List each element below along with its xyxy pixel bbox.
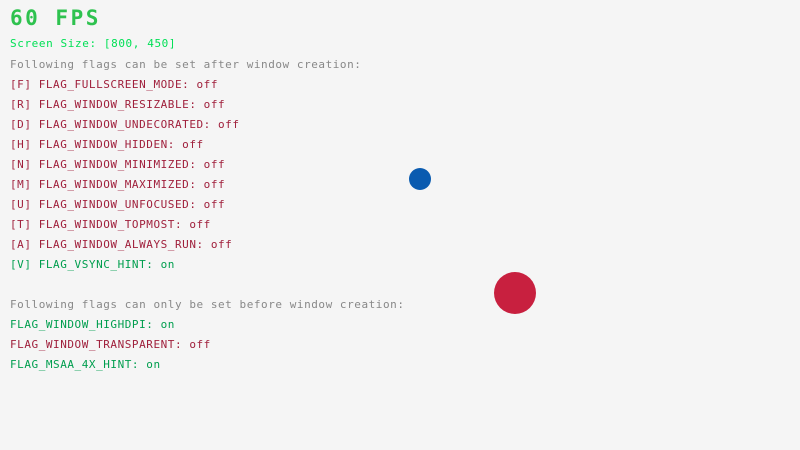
flag-row-window-always-run[interactable]: [A] FLAG_WINDOW_ALWAYS_RUN: off [10,239,232,250]
flag-row-window-topmost[interactable]: [T] FLAG_WINDOW_TOPMOST: off [10,219,211,230]
flag-row-window-unfocused[interactable]: [U] FLAG_WINDOW_UNFOCUSED: off [10,199,225,210]
flag-row-window-minimized[interactable]: [N] FLAG_WINDOW_MINIMIZED: off [10,159,225,170]
flag-row-window-hidden[interactable]: [H] FLAG_WINDOW_HIDDEN: off [10,139,204,150]
flag-row-window-highdpi: FLAG_WINDOW_HIGHDPI: on [10,319,175,330]
flag-row-msaa-4x-hint: FLAG_MSAA_4X_HINT: on [10,359,161,370]
before-creation-heading: Following flags can only be set before w… [10,299,405,310]
screen-size-label: Screen Size: [800, 450] [10,38,176,49]
flag-row-window-undecorated[interactable]: [D] FLAG_WINDOW_UNDECORATED: off [10,119,240,130]
fps-counter: 60 FPS [10,8,101,29]
after-creation-heading: Following flags can be set after window … [10,59,361,70]
blue-circle [409,168,431,190]
flag-row-vsync-hint[interactable]: [V] FLAG_VSYNC_HINT: on [10,259,175,270]
flag-row-window-resizable[interactable]: [R] FLAG_WINDOW_RESIZABLE: off [10,99,225,110]
application-window: 60 FPS Screen Size: [800, 450] Following… [0,0,800,450]
flags-info-panel: 60 FPS Screen Size: [800, 450] Following… [0,0,420,450]
red-circle [494,272,536,314]
flag-row-window-maximized[interactable]: [M] FLAG_WINDOW_MAXIMIZED: off [10,179,225,190]
flag-row-fullscreen-mode[interactable]: [F] FLAG_FULLSCREEN_MODE: off [10,79,218,90]
flag-row-window-transparent: FLAG_WINDOW_TRANSPARENT: off [10,339,211,350]
